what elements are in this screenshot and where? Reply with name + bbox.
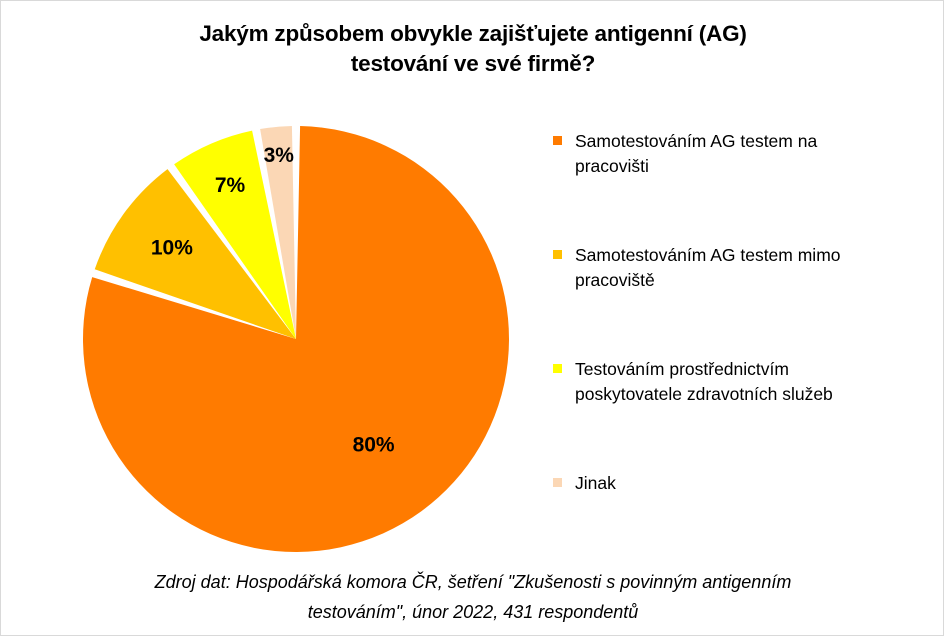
legend-item-label: Samotestováním AG testem na pracovišti <box>575 129 929 179</box>
pie-data-label: 80% <box>353 433 395 456</box>
legend-item-label: Samotestováním AG testem mimo pracoviště <box>575 243 929 293</box>
legend-swatch-icon <box>553 136 562 145</box>
legend-label-line-1: Samotestováním AG testem mimo <box>575 243 929 268</box>
legend-swatch-icon <box>553 364 562 373</box>
pie-data-label: 7% <box>215 174 246 197</box>
pie-data-label: 3% <box>264 144 295 167</box>
pie-slice-group <box>83 126 509 552</box>
legend-item-testovani-poskytovatelem[interactable]: Testováním prostřednictvím poskytovatele… <box>551 357 929 409</box>
legend-item-label: Jinak <box>575 471 929 496</box>
chart-title-line-2: testování ve své firmě? <box>61 49 885 79</box>
pie-data-label: 10% <box>151 236 193 259</box>
legend-item-samotestovani-na-pracovisti[interactable]: Samotestováním AG testem na pracovišti <box>551 129 929 181</box>
source-note-line-1: Zdroj dat: Hospodářská komora ČR, šetřen… <box>41 567 905 597</box>
legend-label-line-1: Testováním prostřednictvím <box>575 357 929 382</box>
legend-item-label: Testováním prostřednictvím poskytovatele… <box>575 357 929 407</box>
legend-label-line-2: pracoviště <box>575 268 929 293</box>
chart-title-line-1: Jakým způsobem obvykle zajišťujete antig… <box>61 19 885 49</box>
legend-item-samotestovani-mimo-pracoviste[interactable]: Samotestováním AG testem mimo pracoviště <box>551 243 929 295</box>
legend-label-line-1: Jinak <box>575 471 929 496</box>
chart-title: Jakým způsobem obvykle zajišťujete antig… <box>61 19 885 79</box>
legend-swatch-icon <box>553 478 562 487</box>
legend-swatch-icon <box>553 250 562 259</box>
pie-svg: 80%10%7%3% <box>61 96 541 566</box>
legend-item-jinak[interactable]: Jinak <box>551 471 929 523</box>
source-note-line-2: testováním", únor 2022, 431 respondentů <box>41 597 905 627</box>
legend: Samotestováním AG testem na pracovišti S… <box>551 129 929 523</box>
legend-label-line-1: Samotestováním AG testem na <box>575 129 929 154</box>
pie-plot-area: 80%10%7%3% <box>61 96 541 566</box>
pie-chart-figure: Jakým způsobem obvykle zajišťujete antig… <box>0 0 944 636</box>
legend-label-line-2: poskytovatele zdravotních služeb <box>575 382 929 407</box>
legend-label-line-2: pracovišti <box>575 154 929 179</box>
source-note: Zdroj dat: Hospodářská komora ČR, šetřen… <box>41 567 905 627</box>
